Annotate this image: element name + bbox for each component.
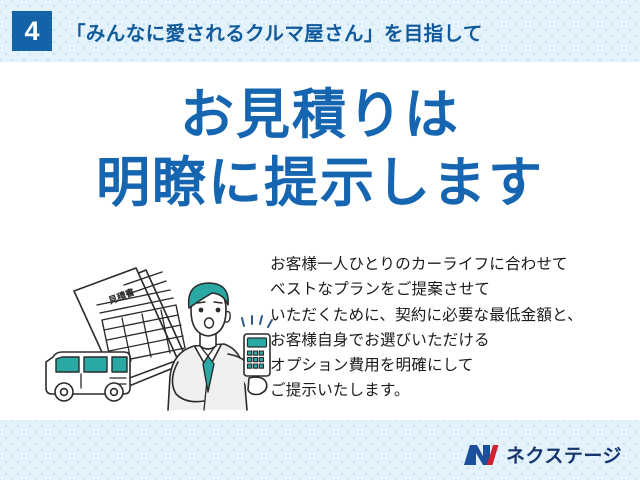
header-bar: 4 「みんなに愛されるクルマ屋さん」を目指して: [0, 0, 640, 62]
body-copy-line-3: いただくために、契約に必要な最低金額と、: [270, 303, 620, 328]
content-card: お見積りは 明瞭に提示します お客様一人ひとりのカーライフに合わせて ベストなプ…: [0, 62, 640, 420]
body-copy: お客様一人ひとりのカーライフに合わせて ベストなプランをご提案させて いただくた…: [270, 252, 620, 404]
salesman-estimate-illustration: 見積書: [28, 258, 278, 413]
body-copy-line-4: お客様自身でお選びいただける: [270, 328, 620, 353]
brand-name: ネクステージ: [506, 441, 622, 468]
headline-line-1: お見積りは: [0, 84, 640, 146]
header-title: 「みんなに愛されるクルマ屋さん」を目指して: [66, 17, 483, 46]
brand-footer: ネクステージ: [463, 441, 622, 468]
slide-root: 4 「みんなに愛されるクルマ屋さん」を目指して お見積りは 明瞭に提示します お…: [0, 0, 640, 480]
body-copy-line-5: オプション費用を明確にして: [270, 353, 620, 378]
body-copy-line-6: ご提示いたします。: [270, 378, 620, 403]
body-copy-line-1: お客様一人ひとりのカーライフに合わせて: [270, 252, 620, 277]
headline: お見積りは 明瞭に提示します: [0, 84, 640, 214]
headline-line-2: 明瞭に提示します: [0, 152, 640, 214]
section-number-badge: 4: [12, 11, 52, 51]
nextage-n-logo-icon: [463, 442, 499, 468]
body-copy-line-2: ベストなプランをご提案させて: [270, 277, 620, 302]
